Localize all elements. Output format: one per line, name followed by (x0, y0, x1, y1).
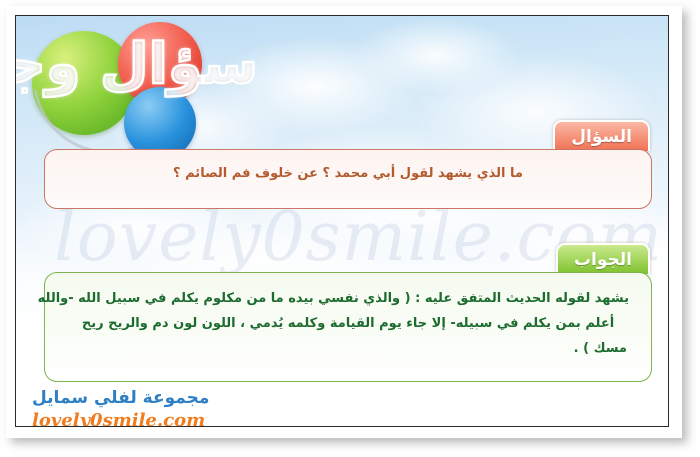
question-text: ما الذي يشهد لقول أبي محمد ؟ عن خلوف فم … (67, 164, 629, 184)
brand-arabic-name: مجموعة لفلي سمايل (32, 388, 209, 409)
logo-wordmark: سؤال وجواب (34, 37, 258, 93)
page-card: lovely0smile.com سؤال وجواب السؤال ما ال… (6, 6, 682, 438)
question-box: ما الذي يشهد لقول أبي محمد ؟ عن خلوف فم … (44, 149, 652, 209)
question-tab-label: السؤال (553, 120, 650, 151)
content-frame: lovely0smile.com سؤال وجواب السؤال ما ال… (15, 15, 669, 427)
brand-website-url: lovely0smile.com (32, 410, 209, 427)
answer-line: أعلم بمن يكلم في سبيله- إلا جاء يوم القي… (67, 312, 629, 337)
answer-line: يشهد لقوله الحديث المتفق عليه : ( والذي … (67, 287, 629, 312)
answer-text: يشهد لقوله الحديث المتفق عليه : ( والذي … (67, 287, 629, 362)
brand-footer: مجموعة لفلي سمايل lovely0smile.com (32, 388, 209, 427)
site-logo: سؤال وجواب (24, 19, 262, 147)
answer-line: مسك ) . (67, 337, 629, 362)
answer-tab-label: الجواب (556, 243, 650, 274)
answer-box: يشهد لقوله الحديث المتفق عليه : ( والذي … (44, 272, 652, 382)
